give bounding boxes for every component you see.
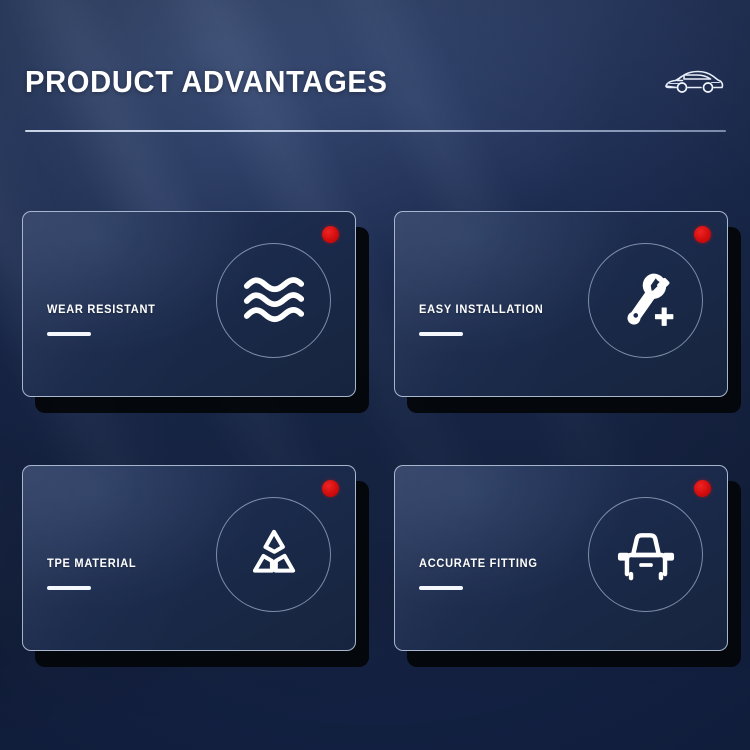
card-body: ACCURATE FITTING	[394, 465, 728, 651]
card-label: TPE MATERIAL	[47, 558, 136, 570]
advantage-card-tpe-material[interactable]: TPE MATERIAL	[22, 465, 356, 651]
card-label: WEAR RESISTANT	[47, 304, 156, 316]
car-front-icon	[612, 521, 680, 589]
card-underline	[419, 332, 463, 336]
card-underline	[47, 586, 91, 590]
card-underline	[419, 586, 463, 590]
card-label: EASY INSTALLATION	[419, 304, 543, 316]
header: PRODUCT ADVANTAGES	[25, 62, 726, 134]
card-icon-container	[216, 243, 331, 358]
card-body: EASY INSTALLATION	[394, 211, 728, 397]
status-dot	[322, 226, 339, 243]
status-dot	[694, 480, 711, 497]
sports-car-side-icon	[662, 62, 726, 102]
card-body: TPE MATERIAL	[22, 465, 356, 651]
waves-icon	[240, 267, 308, 335]
card-icon-container	[588, 243, 703, 358]
card-label: ACCURATE FITTING	[419, 558, 538, 570]
advantage-card-easy-installation[interactable]: EASY INSTALLATION	[394, 211, 728, 397]
header-divider	[25, 130, 726, 132]
advantage-card-grid: WEAR RESISTANT	[22, 211, 728, 681]
status-dot	[322, 480, 339, 497]
advantage-card-accurate-fitting[interactable]: ACCURATE FITTING	[394, 465, 728, 651]
recycle-icon	[240, 521, 308, 589]
card-icon-container	[588, 497, 703, 612]
product-advantages-infographic: PRODUCT ADVANTAGES	[0, 0, 750, 750]
card-body: WEAR RESISTANT	[22, 211, 356, 397]
advantage-card-wear-resistant[interactable]: WEAR RESISTANT	[22, 211, 356, 397]
page-title: PRODUCT ADVANTAGES	[25, 62, 388, 102]
card-underline	[47, 332, 91, 336]
status-dot	[694, 226, 711, 243]
card-icon-container	[216, 497, 331, 612]
wrench-screwdriver-plus-icon	[612, 267, 680, 335]
